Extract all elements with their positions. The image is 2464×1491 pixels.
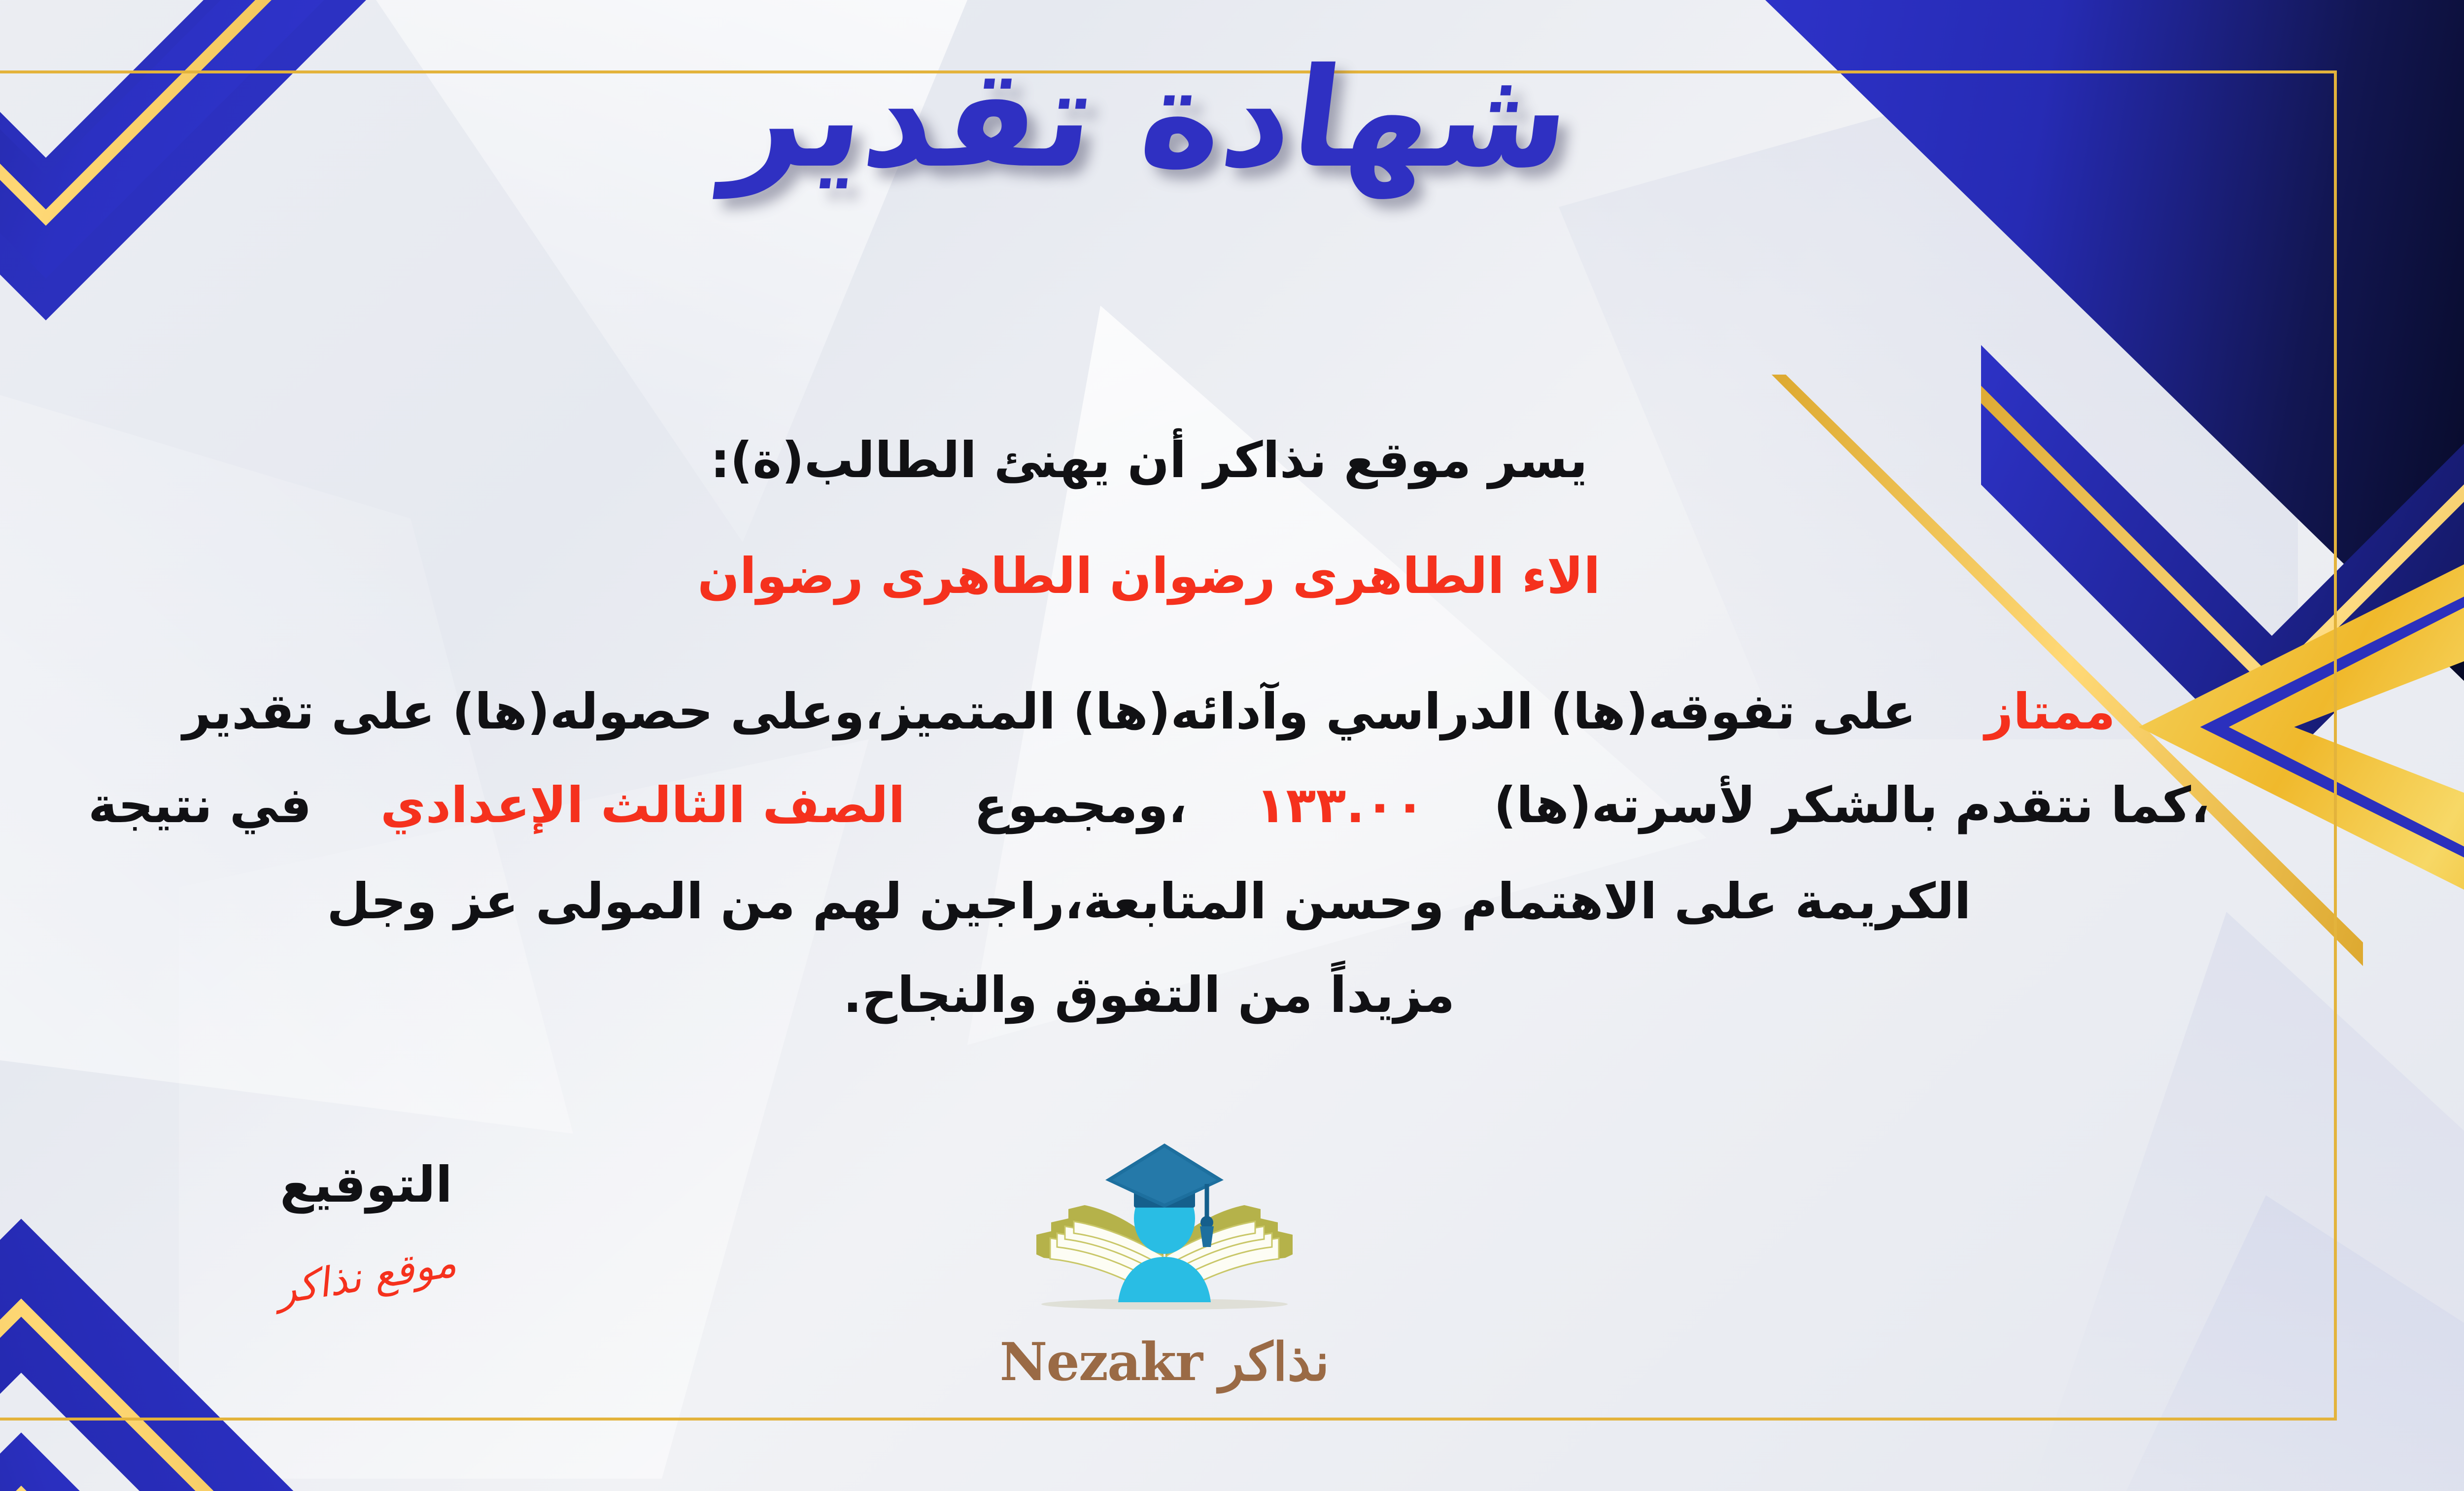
body-line-1: ممتاز على تفوقه(ها) الدراسي وآدائه(ها) ا… — [0, 683, 2464, 740]
class-name: الصف الثالث الإعدادي — [380, 776, 905, 834]
grade-value: ممتاز — [1985, 683, 2116, 740]
student-name-line: الاء الطاهرى رضوان الطاهرى رضوان — [0, 547, 2464, 605]
body-line-3: الكريمة على الاهتمام وحسن المتابعة،راجين… — [0, 872, 2464, 930]
body-text-2c: ،كما نتقدم بالشكر لأسرته(ها) — [1494, 776, 2210, 834]
body-text-1: على تفوقه(ها) الدراسي وآدائه(ها) المتميز… — [183, 683, 1916, 740]
greeting-text: يسر موقع نذاكر أن يهنئ الطالب(ة): — [710, 431, 1587, 489]
body-text-2a: في نتيجة — [88, 776, 311, 834]
logo-wordmark: Nezakr نذاكر — [977, 1331, 1352, 1392]
logo-mark — [977, 1129, 1352, 1326]
brand-logo: Nezakr نذاكر — [977, 1129, 1352, 1392]
signature-label: التوقيع — [208, 1156, 524, 1214]
signature-mark: موقع نذاكر — [273, 1239, 459, 1314]
logo-graphic — [977, 1129, 1352, 1326]
signature-block: التوقيع موقع نذاكر — [208, 1156, 524, 1300]
total-score: ١٣٣.٠٠ — [1256, 776, 1425, 834]
body-text-2b: ،ومجموع — [974, 776, 1187, 834]
body-line-4: مزيداً من التفوق والنجاح. — [0, 966, 2464, 1024]
certificate-canvas: شهادة تقدير يسر موقع نذاكر أن يهنئ الطال… — [0, 0, 2464, 1491]
greeting-line: يسر موقع نذاكر أن يهنئ الطالب(ة): — [0, 431, 2464, 489]
body-line-2: ،كما نتقدم بالشكر لأسرته(ها) ١٣٣.٠٠ ،ومج… — [0, 776, 2464, 834]
certificate-content: شهادة تقدير يسر موقع نذاكر أن يهنئ الطال… — [0, 0, 2464, 1491]
body-text-4: مزيداً من التفوق والنجاح. — [843, 966, 1455, 1024]
certificate-title: شهادة تقدير — [0, 47, 2464, 191]
student-name: الاء الطاهرى رضوان الطاهرى رضوان — [697, 547, 1600, 605]
body-text-3: الكريمة على الاهتمام وحسن المتابعة،راجين… — [327, 872, 1971, 930]
